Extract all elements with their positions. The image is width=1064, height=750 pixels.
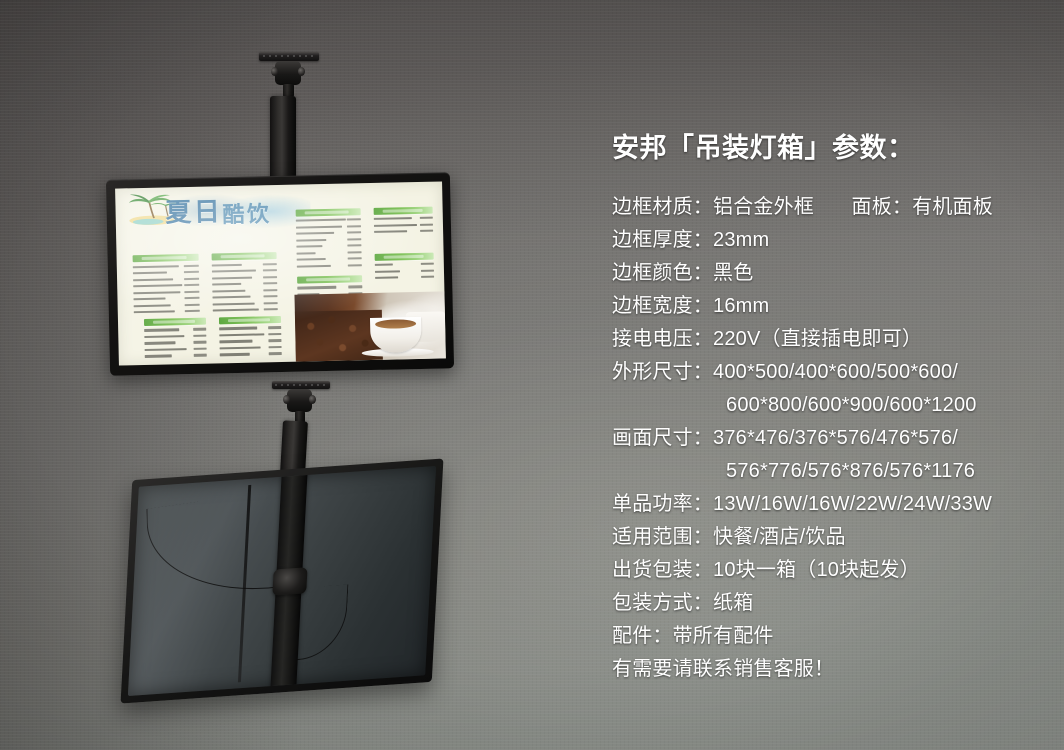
menu-item-row xyxy=(134,289,199,295)
spec-accessories: 配件：带所有配件 xyxy=(612,620,1050,653)
menu-section-header xyxy=(297,275,363,283)
spec-frame-thickness: 边框厚度：23mm xyxy=(612,224,1050,257)
menu-item-row xyxy=(212,300,277,306)
spec-contact: 有需要请联系销售客服！ xyxy=(612,653,1050,686)
menu-item-row xyxy=(145,346,207,352)
spec-panel-material-text: 面板：有机面板 xyxy=(852,196,993,218)
lightbox-menu-screen: 夏 日 酷 饮 xyxy=(115,181,446,365)
menu-item-row xyxy=(145,340,207,346)
menu-section-header xyxy=(375,252,434,260)
menu-item-row xyxy=(133,270,198,276)
spec-frame-width: 边框宽度：16mm xyxy=(612,290,1050,323)
spec-voltage: 接电电压：220V（直接插电即可） xyxy=(612,323,1050,356)
menu-item-row xyxy=(145,353,207,359)
menu-item-row xyxy=(134,283,199,289)
menu-section-header xyxy=(374,206,433,214)
menu-item-row xyxy=(296,223,361,229)
menu-item-row xyxy=(220,338,282,344)
menu-section-header xyxy=(133,254,199,262)
menu-section-8 xyxy=(375,252,434,282)
menu-item-row xyxy=(296,249,361,255)
menu-item-row xyxy=(375,268,434,274)
mount-pole-upper xyxy=(270,96,296,184)
menu-item-row xyxy=(297,284,362,290)
menu-item-row xyxy=(220,344,282,350)
menu-item-row xyxy=(296,256,361,262)
menu-item-row xyxy=(144,327,206,333)
page-title: 安邦「吊装灯箱」参数： xyxy=(612,126,1050,165)
product-photo-canvas: 夏 日 酷 饮 xyxy=(0,0,1064,750)
menu-item-row xyxy=(213,307,278,313)
spec-application: 适用范围：快餐/酒店/饮品 xyxy=(612,521,1050,554)
spec-picture-size: 画面尺寸：376*476/376*576/476*576/ xyxy=(612,422,1050,455)
menu-item-row xyxy=(374,228,433,234)
menu-section-1 xyxy=(133,254,200,316)
menu-item-row xyxy=(296,217,361,223)
menu-item-row xyxy=(220,331,282,337)
specification-panel: 安邦「吊装灯箱」参数： 边框材质：铝合金外框 面板：有机面板 边框厚度：23mm… xyxy=(612,126,1050,686)
hanging-lightbox-front: 夏 日 酷 饮 xyxy=(106,172,454,375)
ceiling-plate-icon xyxy=(272,381,330,389)
spec-picture-size-cont: 576*776/576*876/576*1176 xyxy=(612,455,1050,488)
menu-item-row xyxy=(134,296,199,302)
menu-item-row xyxy=(296,236,361,242)
back-panel-seam xyxy=(238,485,251,682)
menu-item-row xyxy=(296,243,361,249)
spec-frame-material-text: 边框材质：铝合金外框 xyxy=(612,196,814,218)
spec-pack-method: 包装方式：纸箱 xyxy=(612,587,1050,620)
lightbox-back-frame xyxy=(121,458,444,703)
menu-item-row xyxy=(375,274,434,280)
menu-section-5 xyxy=(295,208,362,270)
menu-item-row xyxy=(212,274,277,280)
menu-item-row xyxy=(375,261,434,267)
menu-section-header xyxy=(295,208,361,216)
spec-shipping-pack: 出货包装：10块一箱（10块起发） xyxy=(612,554,1050,587)
menu-item-row xyxy=(212,261,277,267)
menu-item-row xyxy=(374,222,433,228)
menu-item-row xyxy=(212,287,277,293)
menu-item-row xyxy=(297,262,362,268)
spec-power: 单品功率：13W/16W/16W/22W/24W/33W xyxy=(612,488,1050,521)
menu-item-row xyxy=(220,351,282,357)
spec-frame-color: 边框颜色：黑色 xyxy=(612,257,1050,290)
menu-section-2 xyxy=(211,252,278,314)
spec-outer-size: 外形尺寸：400*500/400*600/500*600/ xyxy=(612,356,1050,389)
lightbox-back-face xyxy=(128,466,436,696)
menu-section-4 xyxy=(219,316,282,359)
menu-item-row xyxy=(296,230,361,236)
pivot-knuckle-icon xyxy=(287,389,312,412)
menu-item-row xyxy=(144,333,206,339)
menu-item-row xyxy=(134,302,199,308)
menu-section-header xyxy=(144,318,206,326)
menu-item-row xyxy=(374,215,433,221)
menu-item-row xyxy=(219,325,281,331)
menu-item-row xyxy=(212,281,277,287)
menu-item-row xyxy=(212,294,277,300)
menu-item-row xyxy=(133,263,198,269)
bracket-pivot-hub xyxy=(272,567,307,596)
menu-section-header xyxy=(211,252,277,260)
menu-item-row xyxy=(212,268,277,274)
ceiling-plate-icon xyxy=(259,52,319,61)
power-cable xyxy=(146,487,303,605)
menu-section-6 xyxy=(374,206,433,236)
menu-item-row xyxy=(134,309,199,315)
menu-item-row xyxy=(133,276,198,282)
lightbox-back-unit xyxy=(121,458,444,703)
spec-outer-size-cont: 600*800/600*900/600*1200 xyxy=(612,389,1050,422)
menu-section-header xyxy=(219,316,281,324)
spec-frame-material: 边框材质：铝合金外框 面板：有机面板 xyxy=(612,191,1050,224)
pivot-knuckle-icon xyxy=(275,61,301,85)
coffee-photo xyxy=(294,291,446,362)
menu-section-3 xyxy=(144,318,207,361)
